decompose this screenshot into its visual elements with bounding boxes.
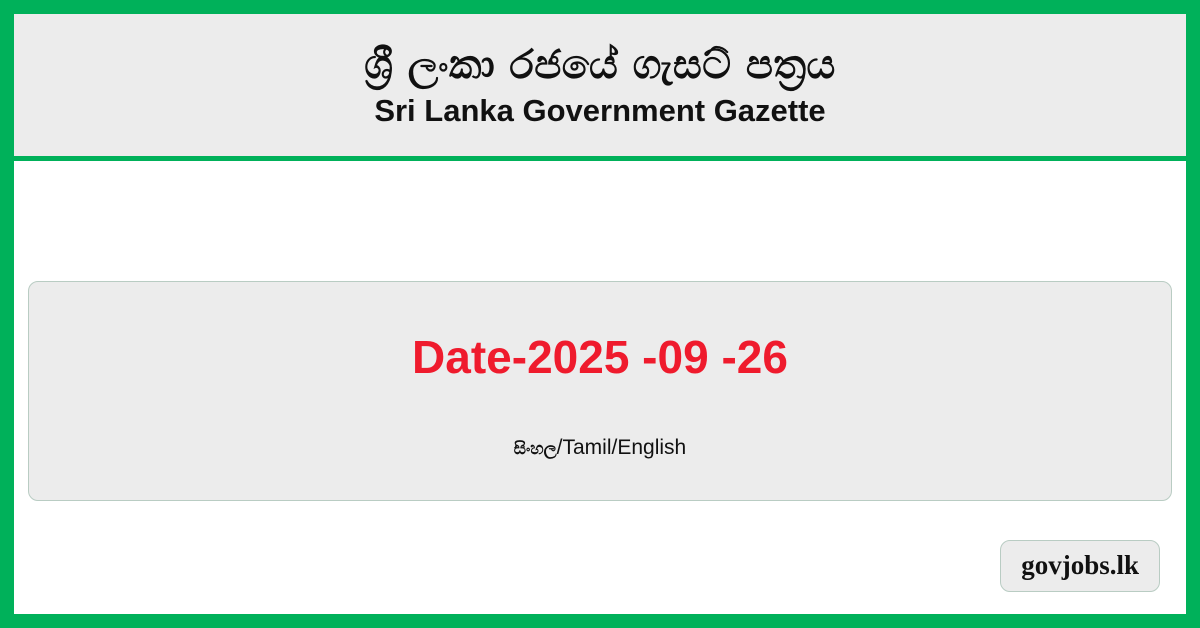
gazette-languages: සිංහල/Tamil/English: [514, 436, 686, 460]
poster-header: ශ්‍රී ලංකා රජයේ ගැසට් පත්‍රය Sri Lanka G…: [14, 14, 1186, 161]
gazette-poster: ශ්‍රී ලංකා රජයේ ගැසට් පත්‍රය Sri Lanka G…: [0, 0, 1200, 628]
header-title-english: Sri Lanka Government Gazette: [374, 94, 825, 128]
language-tamil-english: /Tamil/English: [557, 436, 687, 459]
site-badge: govjobs.lk: [1000, 540, 1160, 592]
header-title-sinhala: ශ්‍රී ලංකා රජයේ ගැසට් පත්‍රය: [364, 42, 835, 88]
poster-body: Date-2025 -09 -26 සිංහල/Tamil/English go…: [14, 161, 1186, 614]
language-sinhala: සිංහල: [514, 439, 557, 459]
gazette-date: Date-2025 -09 -26: [412, 330, 788, 384]
gazette-date-card: Date-2025 -09 -26 සිංහල/Tamil/English: [28, 281, 1172, 501]
